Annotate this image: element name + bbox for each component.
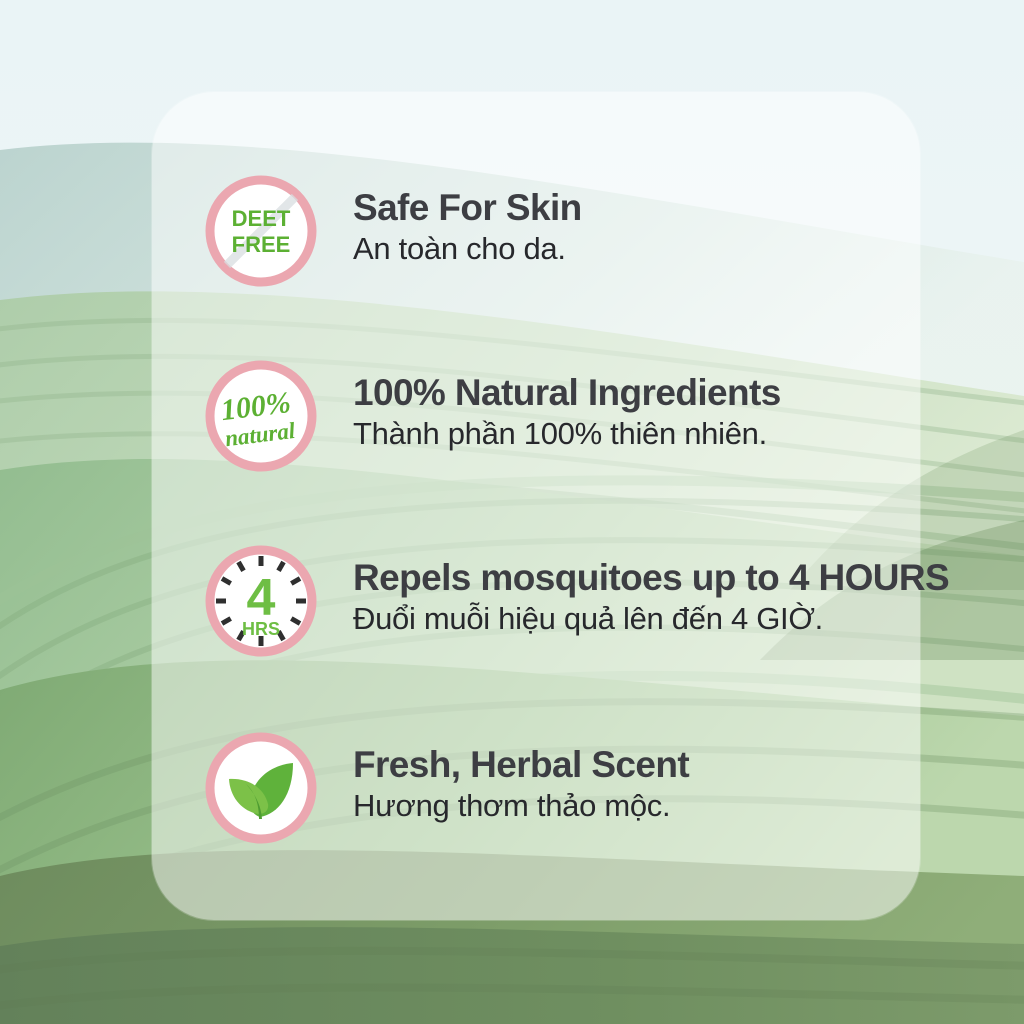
feature-headline: Fresh, Herbal Scent xyxy=(353,746,689,784)
feature-row: 100% natural 100% Natural Ingredients Th… xyxy=(205,360,781,472)
feature-text-block: 100% Natural Ingredients Thành phần 100%… xyxy=(353,374,781,458)
feature-subline: Hương thơm thảo mộc. xyxy=(353,786,689,826)
feature-headline: 100% Natural Ingredients xyxy=(353,374,781,412)
feature-subline: An toàn cho da. xyxy=(353,229,582,269)
feature-row: Fresh, Herbal Scent Hương thơm thảo mộc. xyxy=(205,732,689,844)
hundred-percent-natural-badge-icon: 100% natural xyxy=(205,360,317,472)
feature-subline: Đuổi muỗi hiệu quả lên đến 4 GIỜ. xyxy=(353,599,949,639)
deet-label: DEET xyxy=(232,206,291,231)
feature-row: DEET FREE Safe For Skin An toàn cho da. xyxy=(205,175,582,287)
free-label: FREE xyxy=(232,232,291,257)
feature-text-block: Fresh, Herbal Scent Hương thơm thảo mộc. xyxy=(353,746,689,830)
feature-text-block: Safe For Skin An toàn cho da. xyxy=(353,189,582,273)
feature-headline: Safe For Skin xyxy=(353,189,582,227)
clock-four-hours-icon: 4 HRS xyxy=(205,545,317,657)
feature-headline: Repels mosquitoes up to 4 HOURS xyxy=(353,559,949,597)
promo-graphic: DEET FREE Safe For Skin An toàn cho da. … xyxy=(0,0,1024,1024)
feature-text-block: Repels mosquitoes up to 4 HOURS Đuổi muỗ… xyxy=(353,559,949,643)
herbal-leaves-icon xyxy=(205,732,317,844)
feature-subline: Thành phần 100% thiên nhiên. xyxy=(353,414,781,454)
hrs-label: HRS xyxy=(242,619,280,639)
feature-row: 4 HRS Repels mosquitoes up to 4 HOURS Đu… xyxy=(205,545,949,657)
deet-free-badge-icon: DEET FREE xyxy=(205,175,317,287)
